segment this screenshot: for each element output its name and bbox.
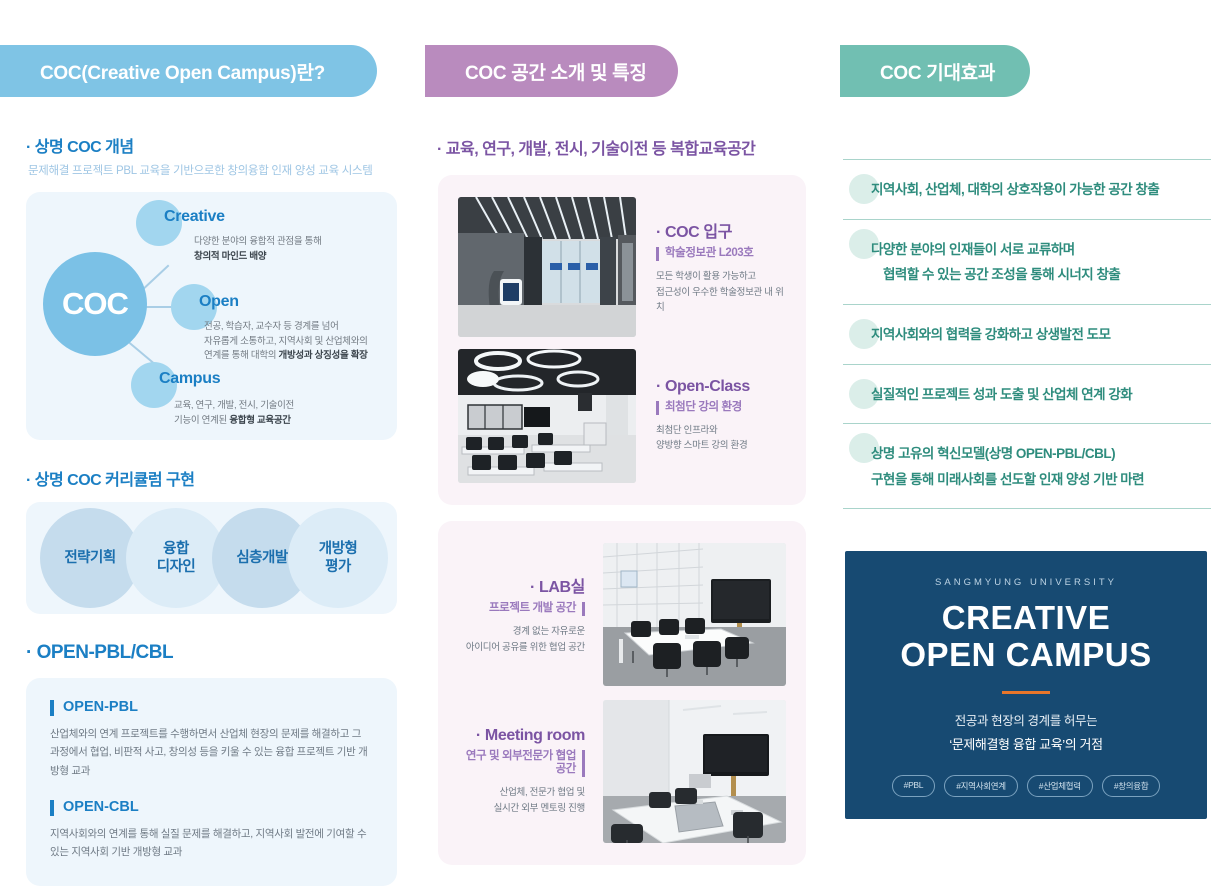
space-card-group-1: · COC 입구 학술정보관 L203호 모든 학생이 활용 가능하고 접근성이… <box>438 175 806 505</box>
section-header-coc-effects: COC 기대효과 <box>840 45 1030 97</box>
curriculum-diagram: 전략기획 융합디자인 심층개발 개방형평가 <box>26 502 397 614</box>
lab-desc-line1: 경계 없는 자유로운 <box>513 626 585 637</box>
campus-description: 교육, 연구, 개발, 전시, 기술이전 기능이 연계된 융합형 교육공간 <box>174 399 294 428</box>
meeting-caption: · Meeting room 연구 및 외부전문가 협업 공간 산업체, 전문가… <box>458 727 585 817</box>
lab-room-photo <box>603 543 786 686</box>
lab-room-photo-art <box>603 543 786 686</box>
promo-title: CREATIVE OPEN CAMPUS <box>845 600 1207 674</box>
open-desc-line3: 연계를 통해 대학의 개방성과 상징성을 확장 <box>204 350 368 361</box>
openpbl-title: · OPEN-PBL/CBL <box>26 642 420 664</box>
space-card-open-class: · Open-Class 최첨단 강의 환경 최첨단 인프라와 양방향 스마트 … <box>458 349 786 483</box>
promo-eyebrow: SANGMYUNG UNIVERSITY <box>845 577 1207 588</box>
coc-core-node: COC <box>43 252 147 356</box>
open-description: 전공, 학습자, 교수자 등 경계를 넘어 자유롭게 소통하고, 지역사회 및 … <box>204 320 368 364</box>
lab-subtitle: 프로젝트 개발 공간 <box>458 602 585 616</box>
effect-line-2: 협력할 수 있는 공간 조성을 통해 시너지 창출 <box>871 262 1211 288</box>
effect-line-1: 다양한 분야의 인재들이 서로 교류하며 <box>871 237 1211 263</box>
curriculum-circle-2-line2: 디자인 <box>157 559 196 575</box>
open-desc-line2: 자유롭게 소통하고, 지역사회 및 산업체와의 <box>204 336 368 347</box>
section-header-label: COC 기대효과 <box>880 58 995 85</box>
column-coc-definition: COC(Creative Open Campus)란? · 상명 COC 개념 … <box>0 0 420 886</box>
coc-entrance-desc-line2: 접근성이 우수한 학술정보관 내 위치 <box>656 287 784 314</box>
lab-desc-line2: 아이디어 공유를 위한 협업 공간 <box>466 642 585 653</box>
open-class-desc-line2: 양방향 스마트 강의 환경 <box>656 440 747 451</box>
open-class-subtitle: 최첨단 강의 환경 <box>656 401 786 415</box>
promo-tag-2: #지역사회연계 <box>944 775 1018 797</box>
promo-title-line2: OPEN CAMPUS <box>900 636 1151 673</box>
creative-label: Creative <box>164 208 225 226</box>
coc-entrance-desc: 모든 학생이 활용 가능하고 접근성이 우수한 학술정보관 내 위치 <box>656 269 786 316</box>
effect-item-1: 지역사회, 산업체, 대학의 상호작용이 가능한 공간 창출 <box>843 159 1211 219</box>
campus-desc-line2: 기능이 연계된 융합형 교육공간 <box>174 415 291 426</box>
open-class-caption: · Open-Class 최첨단 강의 환경 최첨단 인프라와 양방향 스마트 … <box>656 378 786 454</box>
effect-item-3: 지역사회와의 협력을 강화하고 상생발전 도모 <box>843 304 1211 364</box>
effect-line-1: 상명 고유의 혁신모델(상명 OPEN-PBL/CBL) <box>871 441 1211 467</box>
meeting-room-photo <box>603 700 786 843</box>
openpbl-body: 산업체와의 연계 프로젝트를 수행하면서 산업체 현장의 문제를 해결하고 그 … <box>50 725 373 780</box>
open-desc-line1: 전공, 학습자, 교수자 등 경계를 넘어 <box>204 321 339 332</box>
section-header-label: COC(Creative Open Campus)란? <box>40 58 325 85</box>
promo-tag-list: #PBL #지역사회연계 #산업체협력 #창의융합 <box>845 775 1207 797</box>
promo-title-line1: CREATIVE <box>942 599 1110 636</box>
coc-entrance-desc-line1: 모든 학생이 활용 가능하고 <box>656 271 756 282</box>
coc-entrance-caption: · COC 입구 학술정보관 L203호 모든 학생이 활용 가능하고 접근성이… <box>656 218 786 316</box>
open-label: Open <box>199 293 239 311</box>
space-section-title: · 교육, 연구, 개발, 전시, 기술이전 등 복합교육공간 <box>437 135 825 159</box>
meeting-title: · Meeting room <box>458 727 585 745</box>
section-header-coc-definition: COC(Creative Open Campus)란? <box>0 45 377 97</box>
curriculum-circle-4: 개방형평가 <box>288 508 388 608</box>
meeting-desc-line2: 실시간 외부 멘토링 진행 <box>494 803 585 814</box>
curriculum-circle-3-line1: 심층개발 <box>236 550 287 566</box>
effect-line-1: 지역사회, 산업체, 대학의 상호작용이 가능한 공간 창출 <box>871 177 1211 203</box>
open-class-photo-art <box>458 349 636 483</box>
opencbl-body: 지역사회와의 연계를 통해 실질 문제를 해결하고, 지역사회 발전에 기여할 … <box>50 825 373 862</box>
coc-entrance-photo-art <box>458 197 636 337</box>
coc-entrance-subtitle: 학술정보관 L203호 <box>656 247 786 261</box>
promo-card: SANGMYUNG UNIVERSITY CREATIVE OPEN CAMPU… <box>845 551 1207 819</box>
curriculum-circle-4-line2: 평가 <box>325 559 351 575</box>
space-card-coc-entrance: · COC 입구 학술정보관 L203호 모든 학생이 활용 가능하고 접근성이… <box>458 197 786 337</box>
open-class-photo <box>458 349 636 483</box>
open-class-title: · Open-Class <box>656 378 786 396</box>
promo-subtitle-2: ‘문제해결형 융합 교육’의 거점 <box>845 734 1207 753</box>
openpbl-panel: OPEN-PBL 산업체와의 연계 프로젝트를 수행하면서 산업체 현장의 문제… <box>26 678 397 886</box>
effect-line-1: 실질적인 프로젝트 성과 도출 및 산업체 연계 강화 <box>871 382 1211 408</box>
meeting-desc: 산업체, 전문가 협업 및 실시간 외부 멘토링 진행 <box>458 785 585 816</box>
lab-desc: 경계 없는 자유로운 아이디어 공유를 위한 협업 공간 <box>458 624 585 655</box>
coc-entrance-title: · COC 입구 <box>656 218 786 242</box>
curriculum-circle-1: 전략기획 <box>40 508 140 608</box>
coc-concept-diagram: COC Creative 다양한 분야의 융합적 관점을 통해 창의적 마인드 … <box>26 192 397 440</box>
creative-description: 다양한 분야의 융합적 관점을 통해 창의적 마인드 배양 <box>194 235 322 264</box>
promo-tag-1: #PBL <box>892 775 936 797</box>
promo-subtitle-1: 전공과 현장의 경계를 허무는 <box>845 710 1207 729</box>
meeting-room-photo-art <box>603 700 786 843</box>
space-card-lab: · LAB실 프로젝트 개발 공간 경계 없는 자유로운 아이디어 공유를 위한… <box>458 543 786 686</box>
creative-desc-line1: 다양한 분야의 융합적 관점을 통해 <box>194 236 322 247</box>
section-header-coc-space: COC 공간 소개 및 특징 <box>425 45 678 97</box>
column-coc-effects: COC 기대효과 지역사회, 산업체, 대학의 상호작용이 가능한 공간 창출 … <box>825 0 1231 819</box>
space-card-meeting: · Meeting room 연구 및 외부전문가 협업 공간 산업체, 전문가… <box>458 700 786 843</box>
lab-caption: · LAB실 프로젝트 개발 공간 경계 없는 자유로운 아이디어 공유를 위한… <box>458 573 585 655</box>
column-coc-space: COC 공간 소개 및 특징 · 교육, 연구, 개발, 전시, 기술이전 등 … <box>415 0 825 865</box>
effect-item-4: 실질적인 프로젝트 성과 도출 및 산업체 연계 강화 <box>843 364 1211 424</box>
campus-desc-line1: 교육, 연구, 개발, 전시, 기술이전 <box>174 400 294 411</box>
promo-tag-4: #창의융합 <box>1102 775 1161 797</box>
lab-title: · LAB실 <box>458 573 585 597</box>
opencbl-heading: OPEN-CBL <box>50 800 373 816</box>
creative-desc-line2: 창의적 마인드 배양 <box>194 251 266 262</box>
promo-tag-3: #산업체협력 <box>1027 775 1093 797</box>
effect-line-1: 지역사회와의 협력을 강화하고 상생발전 도모 <box>871 322 1211 348</box>
concept-title: · 상명 COC 개념 <box>26 133 420 157</box>
curriculum-circle-1-line1: 전략기획 <box>64 550 115 566</box>
space-card-group-2: · LAB실 프로젝트 개발 공간 경계 없는 자유로운 아이디어 공유를 위한… <box>438 521 806 865</box>
meeting-desc-line1: 산업체, 전문가 협업 및 <box>500 787 585 798</box>
concept-subtitle: 문제해결 프로젝트 PBL 교육을 기반으로한 창의융합 인재 양성 교육 시스… <box>28 162 420 178</box>
promo-divider <box>1002 691 1050 694</box>
effect-line-2: 구현을 통해 미래사회를 선도할 인재 양성 기반 마련 <box>871 467 1211 493</box>
coc-core-label: COC <box>62 286 128 322</box>
section-header-label: COC 공간 소개 및 특징 <box>465 58 647 85</box>
effects-list: 지역사회, 산업체, 대학의 상호작용이 가능한 공간 창출 다양한 분야의 인… <box>843 159 1211 509</box>
open-class-desc: 최첨단 인프라와 양방향 스마트 강의 환경 <box>656 423 786 454</box>
coc-entrance-photo <box>458 197 636 337</box>
openpbl-heading: OPEN-PBL <box>50 700 373 716</box>
effect-item-5: 상명 고유의 혁신모델(상명 OPEN-PBL/CBL) 구현을 통해 미래사회… <box>843 423 1211 509</box>
open-class-desc-line1: 최첨단 인프라와 <box>656 425 717 436</box>
effect-item-2: 다양한 분야의 인재들이 서로 교류하며 협력할 수 있는 공간 조성을 통해 … <box>843 219 1211 304</box>
meeting-subtitle: 연구 및 외부전문가 협업 공간 <box>458 750 585 778</box>
curriculum-circle-2-line1: 융합 <box>163 541 189 557</box>
curriculum-circle-4-line1: 개방형 <box>319 541 358 557</box>
campus-label: Campus <box>159 370 220 388</box>
curriculum-circle-2: 융합디자인 <box>126 508 226 608</box>
curriculum-title: · 상명 COC 커리큘럼 구현 <box>26 466 420 490</box>
